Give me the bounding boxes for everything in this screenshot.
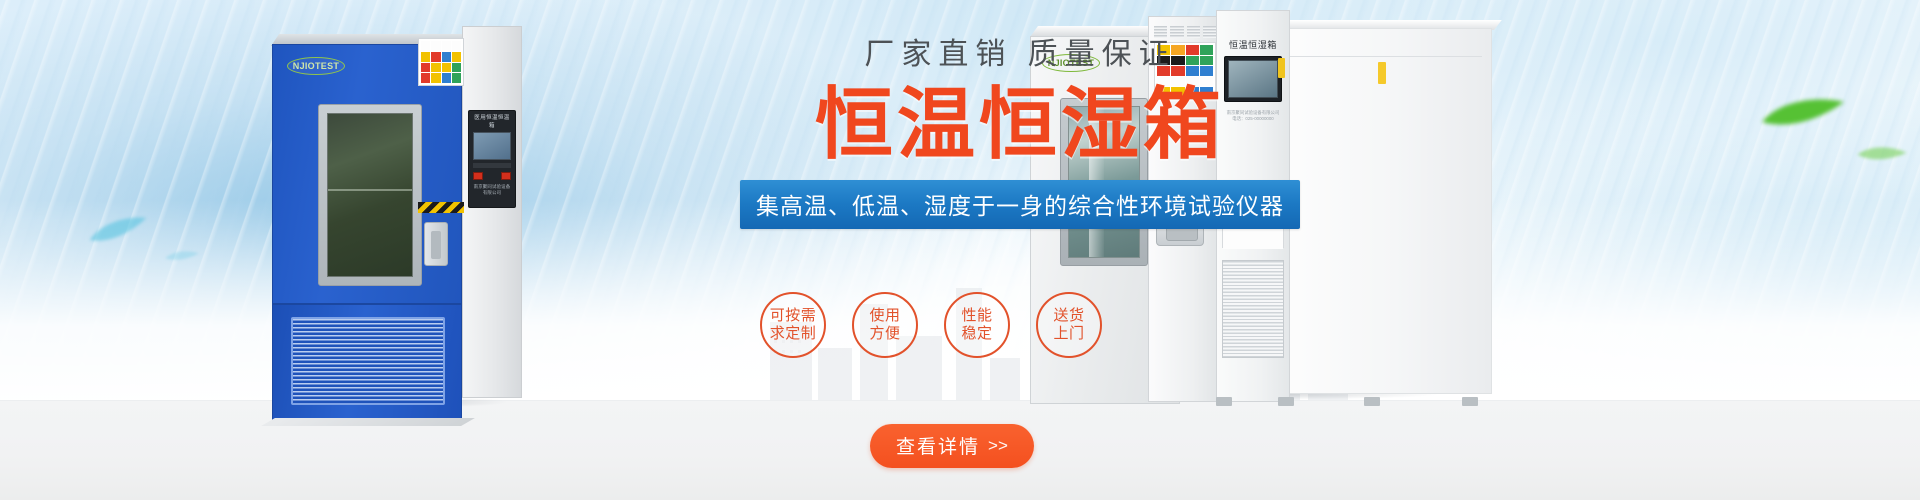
feature-circle-line2: 稳定: [961, 325, 992, 343]
feature-circle-line1: 性能: [961, 307, 992, 325]
feature-circle-custom[interactable]: 可按需 求定制: [760, 292, 826, 358]
banner-copy-block: 厂家直销 质量保证 恒温恒湿箱 集高温、低温、湿度于一身的综合性环境试验仪器: [700, 40, 1340, 229]
left-chamber-warning-stickers: [418, 38, 464, 86]
left-chamber-side-column: [462, 26, 522, 398]
view-details-label: 查看详情: [896, 432, 980, 459]
left-chamber-viewing-window: [327, 113, 413, 277]
left-chamber-brand-logo: NJIOTEST: [287, 57, 345, 75]
right-chamber-louvre-vents: [1154, 26, 1216, 38]
product-banner: NJIOTEST 医用恒温恒温箱 南京聚同试验设备有限公司: [0, 0, 1920, 500]
feature-circle-easy-use[interactable]: 使用 方便: [852, 292, 918, 358]
banner-subtitle-bar: 集高温、低温、湿度于一身的综合性环境试验仪器: [740, 180, 1300, 229]
right-chamber-rear-yellow-tab: [1378, 62, 1386, 84]
feature-circle-line2: 方便: [869, 325, 900, 343]
feature-circle-delivery[interactable]: 送货 上门: [1036, 292, 1102, 358]
feature-circle-line2: 求定制: [770, 325, 817, 343]
left-chamber-panel-brand: 南京聚同试验设备有限公司: [472, 184, 512, 196]
left-chamber-panel-title: 医用恒温恒温箱: [472, 114, 512, 130]
feature-circle-line1: 使用: [869, 307, 900, 325]
left-chamber-indicator-lights: [473, 172, 511, 180]
double-chevron-right-icon: >>: [988, 436, 1008, 456]
left-chamber-door-handle: [424, 222, 448, 266]
product-image-left-chamber: NJIOTEST 医用恒温恒温箱 南京聚同试验设备有限公司: [272, 26, 522, 404]
banner-headline: 恒温恒湿箱: [700, 82, 1340, 166]
left-chamber-door: [318, 104, 422, 286]
banner-tagline: 厂家直销 质量保证: [700, 40, 1340, 70]
left-chamber-control-panel: 医用恒温恒温箱 南京聚同试验设备有限公司: [468, 110, 516, 208]
left-chamber-panel-strip: [473, 163, 511, 168]
left-chamber-base-unit: [272, 304, 462, 422]
left-chamber-base-plinth: [261, 418, 475, 426]
view-details-button[interactable]: 查看详情 >>: [870, 424, 1034, 468]
feature-circle-line1: 可按需: [770, 307, 817, 325]
feature-circle-list: 可按需 求定制 使用 方便 性能 稳定 送货 上门: [760, 292, 1280, 358]
feature-circle-line2: 上门: [1053, 325, 1084, 343]
left-chamber-display-screen: [473, 132, 511, 160]
feature-circle-stable[interactable]: 性能 稳定: [944, 292, 1010, 358]
left-chamber-vent-grille: [291, 317, 445, 405]
left-chamber-hazard-tape: [418, 202, 464, 213]
feature-circle-line1: 送货: [1053, 307, 1084, 325]
right-chamber-feet: [1216, 396, 1494, 406]
